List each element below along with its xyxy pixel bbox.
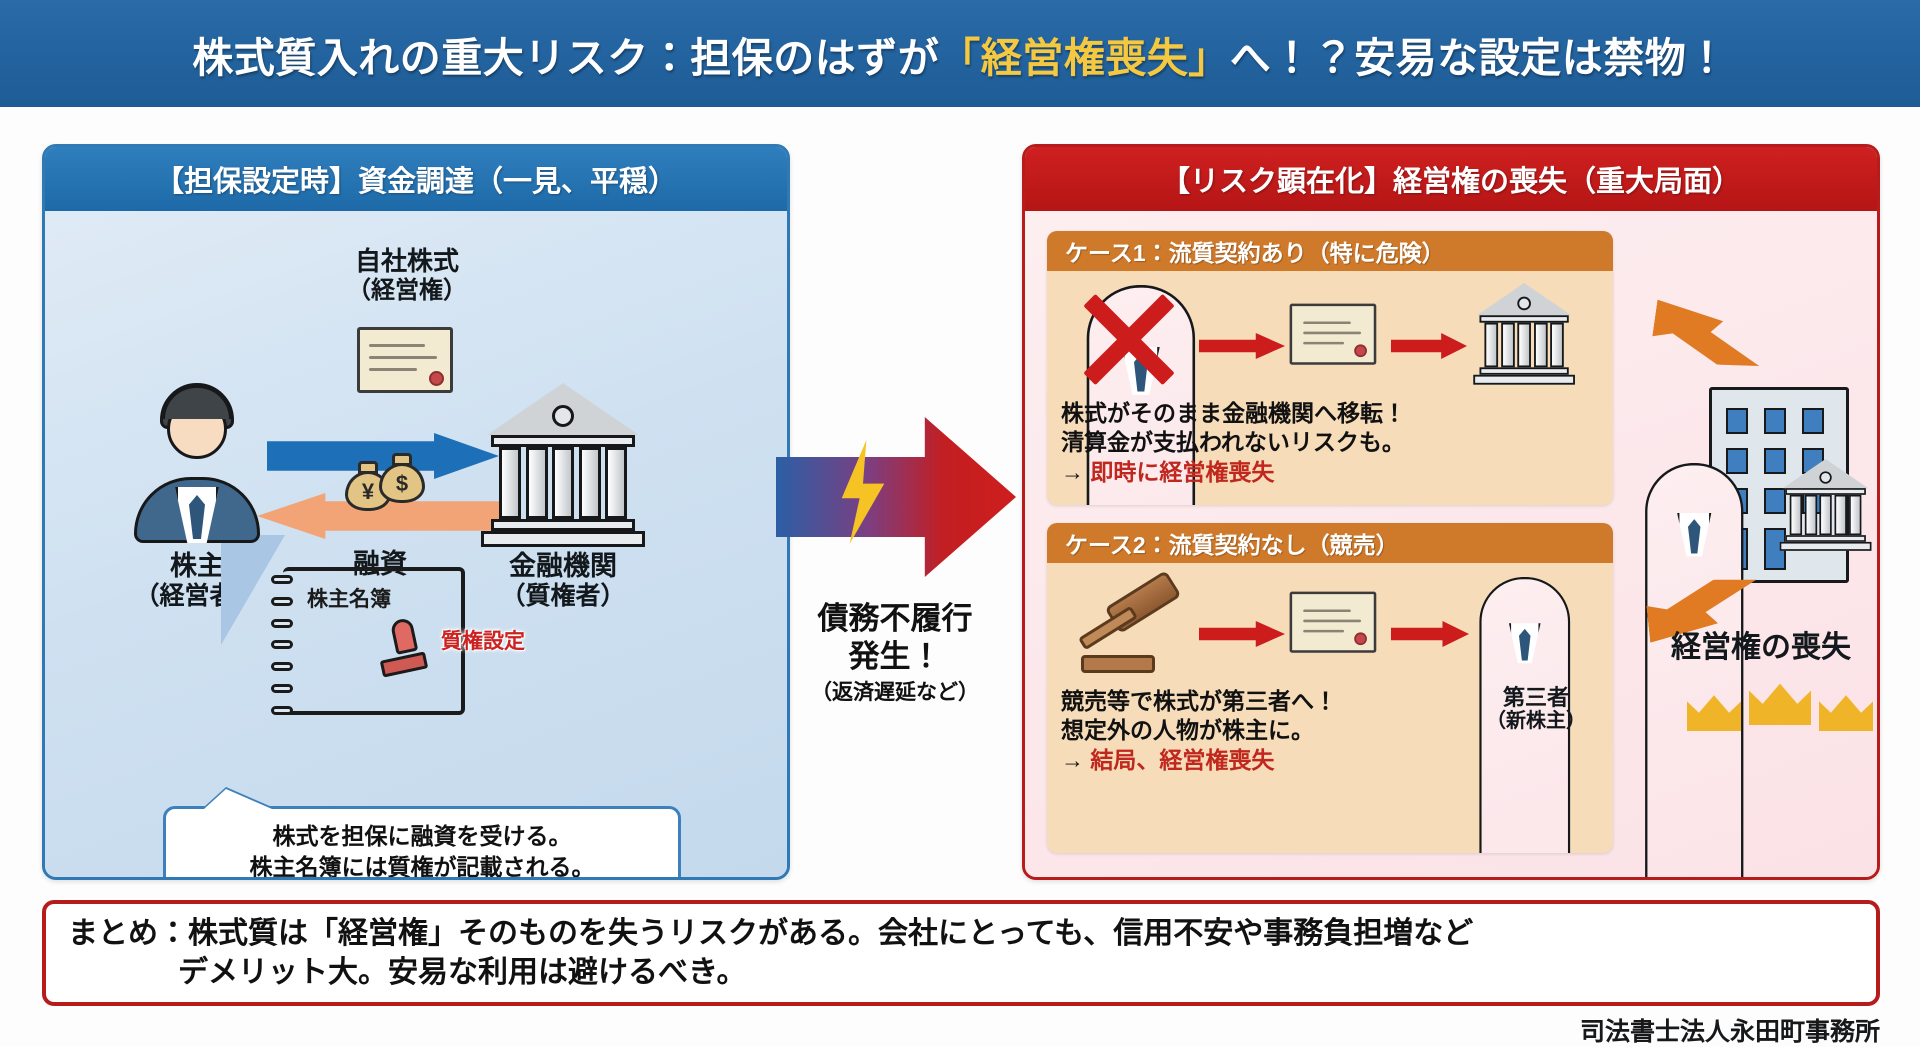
- case1-outcome-arrow: [1650, 300, 1767, 371]
- bank-building-icon: [487, 383, 639, 549]
- left-panel-header: 【担保設定時】資金調達（一見、平穏）: [45, 147, 787, 211]
- third-party-label: 第三者 （新株主）: [1463, 685, 1609, 733]
- crown-icon-1: [1687, 693, 1741, 731]
- third-party-person-icon: [1483, 577, 1567, 663]
- bank-label: 金融機関 （質権者）: [459, 551, 667, 611]
- summary-box: まとめ：株式質は「経営権」そのものを失うリスクがある。会社にとっても、信用不安や…: [42, 900, 1880, 1006]
- case2-line-1: 競売等で株式が第三者へ！: [1061, 687, 1337, 716]
- left-panel-body: 自社株式 （経営権） 株主 （経営者）: [45, 211, 787, 877]
- page-title-before: 株式質入れの重大リスク：担保のはずが: [192, 35, 939, 81]
- case2-transfer-arrow-2: [1391, 621, 1469, 647]
- right-panel: 【リスク顕在化】経営権の喪失（重大局面） ケース1：流質契約あり（特に危険）: [1022, 144, 1880, 880]
- case2-line-2: 想定外の人物が株主に。: [1061, 716, 1337, 745]
- shareholder-ledger-icon: 株主名簿: [283, 567, 465, 715]
- case-1-header: ケース1：流質契約あり（特に危険）: [1047, 231, 1613, 271]
- case1-transfer-arrow-1: [1199, 333, 1285, 359]
- case1-line-3: → 即時に経営権喪失: [1061, 458, 1406, 487]
- page-title: 株式質入れの重大リスク：担保のはずが「経営権喪失」へ！？安易な設定は禁物！: [192, 24, 1728, 84]
- case2-emphasis: 結局、経営権喪失: [1090, 747, 1274, 773]
- case2-line-3: → 結局、経営権喪失: [1061, 746, 1337, 775]
- page-title-after: へ！？安易な設定は禁物！: [1230, 35, 1728, 81]
- case-2-header: ケース2：流質契約なし（競売）: [1047, 523, 1613, 563]
- case1-certificate-icon: [1293, 307, 1375, 363]
- case-2-box: ケース2：流質契約なし（競売）: [1047, 523, 1613, 853]
- stock-certificate-icon: [357, 327, 453, 393]
- default-line-1: 債務不履行: [780, 600, 1010, 638]
- summary-line-1: まとめ：株式質は「経営権」そのものを失うリスクがある。会社にとっても、信用不安や…: [68, 914, 1854, 953]
- case1-line-1: 株式がそのまま金融機関へ移転！: [1061, 399, 1406, 428]
- outcome-label: 経営権の喪失: [1631, 631, 1880, 666]
- default-note: （返済遅延など）: [780, 680, 1010, 706]
- title-bar: 株式質入れの重大リスク：担保のはずが「経営権喪失」へ！？安易な設定は禁物！: [0, 0, 1920, 107]
- case1-line-2: 清算金が支払われないリスクも。: [1061, 428, 1406, 457]
- case-1-box: ケース1：流質契約あり（特に危険）: [1047, 231, 1613, 505]
- infographic-root: 株式質入れの重大リスク：担保のはずが「経営権喪失」へ！？安易な設定は禁物！ 【担…: [0, 0, 1920, 1047]
- callout-line-2: 株主名簿には質権が記載される。: [250, 852, 595, 880]
- default-line-2: 発生！: [780, 638, 1010, 676]
- callout-tail: [204, 789, 272, 809]
- pledge-stamp-icon: [383, 619, 425, 673]
- lost-crowns-group: [1683, 681, 1873, 731]
- left-panel: 【担保設定時】資金調達（一見、平穏） 自社株式 （経営権） 株主 （経営: [42, 144, 790, 880]
- right-panel-header: 【リスク顕在化】経営権の喪失（重大局面）: [1025, 147, 1877, 211]
- left-callout-box: 株式を担保に融資を受ける。 株主名簿には質権が記載される。: [163, 806, 681, 880]
- case1-transfer-arrow-2: [1391, 333, 1467, 359]
- cross-out-icon: [1075, 285, 1183, 393]
- outcome-column: 経営権の喪失: [1643, 211, 1879, 877]
- summary-line-2: デメリット大。安易な利用は避けるべき。: [68, 953, 1854, 992]
- case1-bank-icon: [1477, 283, 1571, 386]
- default-transition-arrow: [776, 417, 1016, 577]
- default-event-text: 債務不履行 発生！ （返済遅延など）: [780, 600, 1010, 705]
- case-1-text: 株式がそのまま金融機関へ移転！ 清算金が支払われないリスクも。 → 即時に経営権…: [1061, 399, 1406, 487]
- case-2-body: 第三者 （新株主） 競売等で株式が第三者へ！ 想定外の人物が株主に。 → 結局、…: [1047, 563, 1613, 853]
- outcome-bank-icon: [1783, 459, 1868, 552]
- auction-gavel-icon: [1081, 585, 1177, 681]
- callout-line-1: 株式を担保に融資を受ける。: [273, 821, 572, 852]
- right-panel-body: ケース1：流質契約あり（特に危険）: [1025, 211, 1877, 877]
- case2-transfer-arrow-1: [1199, 621, 1285, 647]
- case1-arrow-glyph: →: [1061, 459, 1084, 485]
- case1-emphasis: 即時に経営権喪失: [1090, 459, 1274, 485]
- money-bag-dollar-icon: $: [379, 453, 425, 503]
- page-title-highlight: 「経営権喪失」: [939, 35, 1230, 81]
- shareholder-person-icon: [131, 383, 263, 543]
- pledge-stamp-label: 質権設定: [441, 625, 525, 655]
- case-2-text: 競売等で株式が第三者へ！ 想定外の人物が株主に。 → 結局、経営権喪失: [1061, 687, 1337, 775]
- stock-certificate-label: 自社株式 （経営権）: [287, 247, 527, 304]
- case2-certificate-icon: [1293, 595, 1375, 651]
- footer-credit: 司法書士法人永田町事務所: [1580, 1012, 1880, 1047]
- case-1-body: 株式がそのまま金融機関へ移転！ 清算金が支払われないリスクも。 → 即時に経営権…: [1047, 271, 1613, 505]
- ledger-label: 株主名簿: [307, 583, 391, 613]
- sad-owner-icon: [1649, 463, 1739, 557]
- case2-arrow-glyph: →: [1061, 747, 1084, 773]
- crown-icon-3: [1819, 693, 1873, 731]
- crown-icon-2: [1749, 681, 1811, 725]
